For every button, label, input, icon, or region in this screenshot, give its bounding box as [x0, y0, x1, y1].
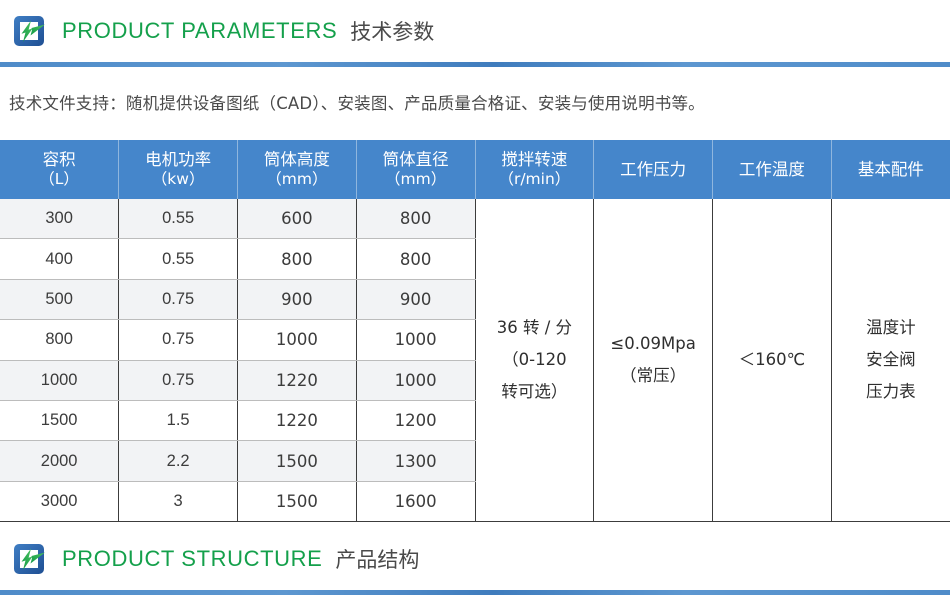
column-header-working-pressure: 工作压力 — [594, 140, 713, 199]
cell-volume: 3000 — [0, 481, 119, 521]
cell-working-temperature: ＜160℃ — [713, 199, 832, 522]
cell-diameter: 1300 — [356, 441, 475, 481]
section-title-cn: 技术参数 — [350, 16, 434, 46]
cell-diameter: 800 — [356, 239, 475, 279]
logo-square-bolt-icon — [9, 539, 49, 579]
cell-height: 1000 — [238, 320, 357, 360]
section-divider-rule — [0, 590, 950, 595]
cell-diameter: 800 — [356, 199, 475, 239]
section-title-en: PRODUCT PARAMETERS — [62, 18, 337, 44]
cell-height: 600 — [238, 199, 357, 239]
cell-diameter: 1000 — [356, 360, 475, 400]
cell-power: 2.2 — [119, 441, 238, 481]
section-header-product-structure: PRODUCT STRUCTURE 产品结构 — [0, 528, 950, 595]
table-row: 300 0.55 600 800 36 转 / 分 （0-120 转可选） ≤0… — [0, 199, 950, 239]
column-header-motor-power: 电机功率 （kw） — [119, 140, 238, 199]
cell-height: 1500 — [238, 481, 357, 521]
table-header-row: 容积 （L） 电机功率 （kw） 筒体高度 （mm） 筒体直径 （mm） 搅拌转… — [0, 140, 950, 199]
cell-volume: 1500 — [0, 400, 119, 440]
cell-diameter: 1000 — [356, 320, 475, 360]
cell-volume: 2000 — [0, 441, 119, 481]
cell-power: 0.55 — [119, 239, 238, 279]
cell-height: 1220 — [238, 400, 357, 440]
column-header-stirring-speed: 搅拌转速 （r/min） — [475, 140, 594, 199]
column-header-barrel-diameter: 筒体直径 （mm） — [356, 140, 475, 199]
cell-height: 900 — [238, 279, 357, 319]
cell-diameter: 900 — [356, 279, 475, 319]
section-header-product-parameters: PRODUCT PARAMETERS 技术参数 — [0, 0, 950, 67]
cell-volume: 1000 — [0, 360, 119, 400]
cell-power: 0.75 — [119, 360, 238, 400]
cell-volume: 500 — [0, 279, 119, 319]
cell-power: 0.55 — [119, 199, 238, 239]
cell-height: 1220 — [238, 360, 357, 400]
cell-volume: 400 — [0, 239, 119, 279]
intro-note: 技术文件支持：随机提供设备图纸（CAD）、安装图、产品质量合格证、安装与使用说明… — [9, 90, 705, 114]
section-title-en: PRODUCT STRUCTURE — [62, 546, 322, 572]
section-divider-rule — [0, 62, 950, 67]
cell-power: 0.75 — [119, 279, 238, 319]
cell-diameter: 1600 — [356, 481, 475, 521]
column-header-working-temperature: 工作温度 — [713, 140, 832, 199]
product-parameters-page: PRODUCT PARAMETERS 技术参数 技术文件支持：随机提供设备图纸（… — [0, 0, 950, 595]
column-header-volume: 容积 （L） — [0, 140, 119, 199]
cell-power: 3 — [119, 481, 238, 521]
cell-power: 0.75 — [119, 320, 238, 360]
cell-working-pressure: ≤0.09Mpa （常压） — [594, 199, 713, 522]
column-header-barrel-height: 筒体高度 （mm） — [238, 140, 357, 199]
column-header-basic-accessories: 基本配件 — [831, 140, 950, 199]
cell-diameter: 1200 — [356, 400, 475, 440]
cell-volume: 300 — [0, 199, 119, 239]
cell-power: 1.5 — [119, 400, 238, 440]
cell-height: 1500 — [238, 441, 357, 481]
cell-volume: 800 — [0, 320, 119, 360]
logo-square-bolt-icon — [9, 11, 49, 51]
specification-table: 容积 （L） 电机功率 （kw） 筒体高度 （mm） 筒体直径 （mm） 搅拌转… — [0, 140, 950, 522]
cell-stirring-speed: 36 转 / 分 （0-120 转可选） — [475, 199, 594, 522]
section-title-cn: 产品结构 — [335, 544, 419, 574]
cell-basic-accessories: 温度计 安全阀 压力表 — [831, 199, 950, 522]
cell-height: 800 — [238, 239, 357, 279]
